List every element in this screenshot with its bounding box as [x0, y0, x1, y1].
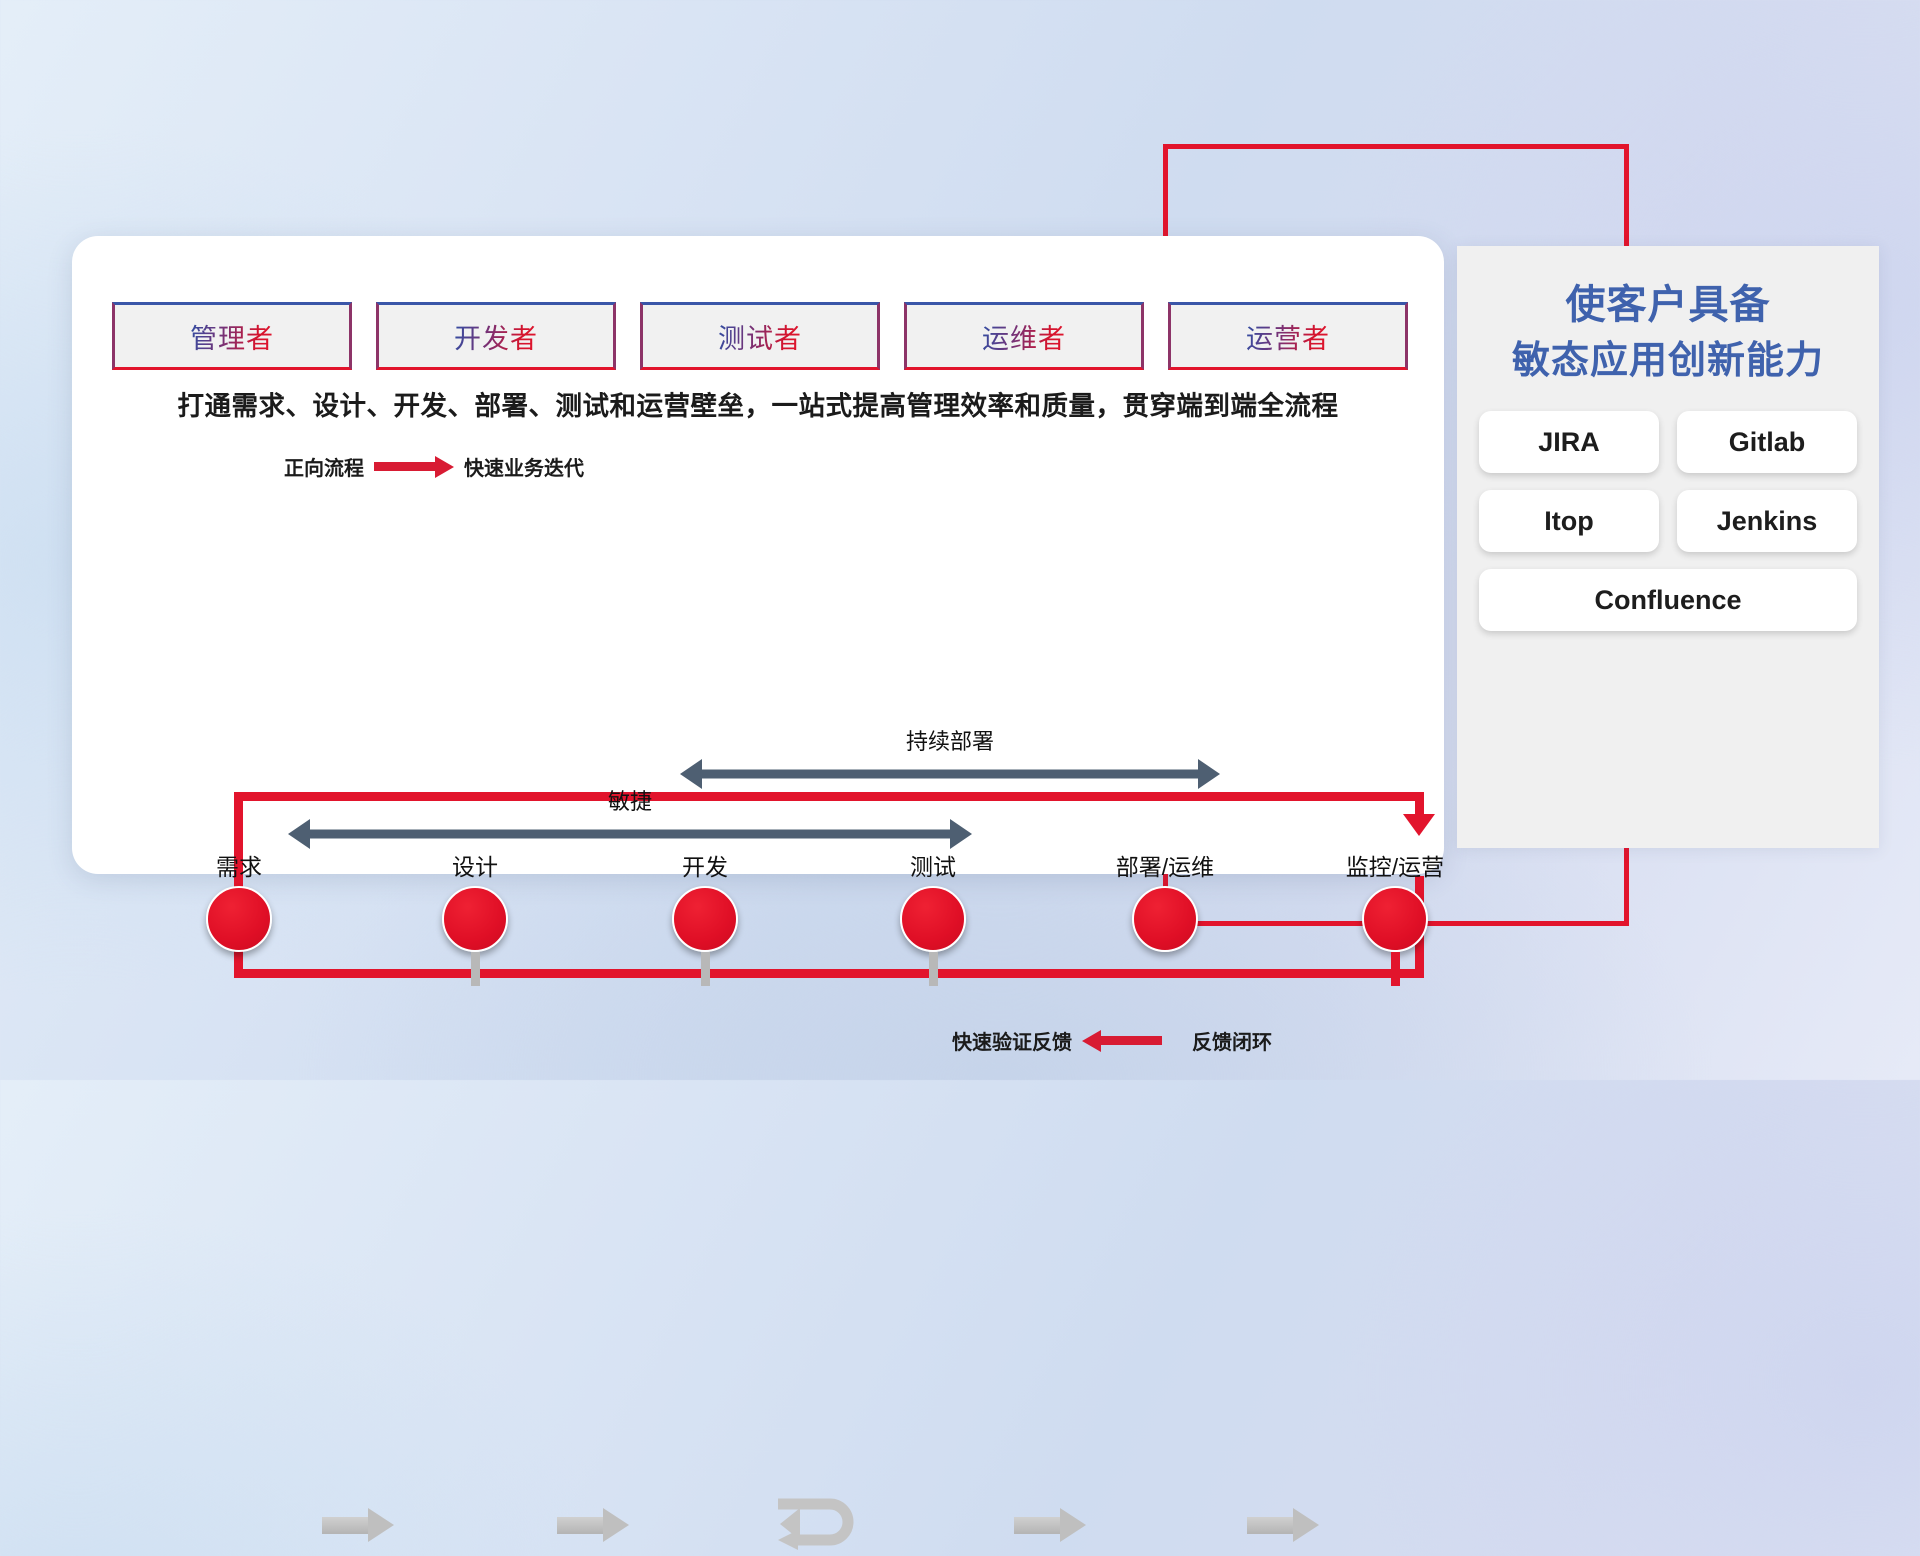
stage-label: 测试 — [858, 848, 1008, 882]
tool-chip-confluence[interactable]: Confluence — [1479, 569, 1857, 631]
stage-label: 需求 — [164, 848, 314, 882]
role-box-tester[interactable]: 测试者 — [640, 302, 880, 370]
role-box-ops[interactable]: 运维者 — [904, 302, 1144, 370]
tool-label: Jenkins — [1717, 506, 1818, 537]
stage-stem — [471, 952, 480, 986]
fast-iteration-label: 快速业务迭代 — [464, 452, 584, 481]
stage-label: 设计 — [400, 848, 550, 882]
arrow-head-right-icon — [950, 819, 972, 849]
stage-label: 开发 — [630, 848, 780, 882]
arrow-bar — [697, 770, 1203, 779]
flow-arrow-icon-2 — [557, 1508, 629, 1542]
pipeline-stage-development[interactable]: 开发 — [630, 848, 780, 986]
role-box-operations[interactable]: 运营者 — [1168, 302, 1408, 370]
tool-label: Itop — [1544, 506, 1593, 537]
pipeline: 需求 设计 开发 — [72, 848, 1444, 988]
right-arrow-icon — [374, 462, 436, 471]
pipeline-stage-deploy-ops[interactable]: 部署/运维 — [1090, 848, 1240, 986]
arrow-tip — [603, 1508, 629, 1542]
tool-chip-jenkins[interactable]: Jenkins — [1677, 490, 1857, 552]
role-label: 开发者 — [454, 317, 538, 356]
panel-title-line2: 敏态应用创新能力 — [1457, 334, 1879, 389]
stage-dot-icon — [442, 886, 508, 952]
stage-dot-icon — [206, 886, 272, 952]
tool-label: Confluence — [1594, 585, 1741, 616]
role-row: 管理者 开发者 测试者 运维者 运营者 — [112, 302, 1408, 370]
tool-chip-itop[interactable]: Itop — [1479, 490, 1659, 552]
arrow-tip — [1060, 1508, 1086, 1542]
forward-flow-legend: 正向流程 快速业务迭代 — [284, 452, 584, 481]
arrow-shaft — [1247, 1517, 1295, 1534]
stage-stem — [929, 952, 938, 986]
role-label: 管理者 — [190, 317, 274, 356]
flow-arrow-icon-1 — [322, 1508, 394, 1542]
feedback-loop-label: 反馈闭环 — [1192, 1026, 1272, 1055]
stage-label: 监控/运营 — [1320, 848, 1470, 882]
headline-text: 打通需求、设计、开发、部署、测试和运营壁垒，一站式提高管理效率和质量，贯穿端到端… — [72, 384, 1444, 423]
stage-label: 部署/运维 — [1090, 848, 1240, 882]
tool-chip-jira[interactable]: JIRA — [1479, 411, 1659, 473]
flow-arrow-icon-3 — [1014, 1508, 1086, 1542]
arrow-shaft — [322, 1517, 370, 1534]
tool-grid: JIRA Gitlab Itop Jenkins Confluence — [1479, 411, 1857, 631]
role-label: 运营者 — [1246, 317, 1330, 356]
stage-dot-icon — [672, 886, 738, 952]
role-box-developer[interactable]: 开发者 — [376, 302, 616, 370]
stage-stem — [1391, 952, 1400, 986]
continuous-deployment-label: 持续部署 — [680, 724, 1220, 756]
role-label: 运维者 — [982, 317, 1066, 356]
value-panel: 使客户具备 敏态应用创新能力 JIRA Gitlab Itop Jenkins … — [1457, 246, 1879, 848]
forward-flow-label: 正向流程 — [284, 452, 364, 481]
loop-back-arrow-icon — [772, 1494, 864, 1556]
feedback-legend: 快速验证反馈 反馈闭环 — [952, 1026, 1272, 1055]
pipeline-stage-design[interactable]: 设计 — [400, 848, 550, 986]
pipeline-stage-requirement[interactable]: 需求 — [164, 848, 314, 986]
tool-label: JIRA — [1538, 427, 1600, 458]
role-box-manager[interactable]: 管理者 — [112, 302, 352, 370]
pipeline-stage-testing[interactable]: 测试 — [858, 848, 1008, 986]
arrow-shaft — [1014, 1517, 1062, 1534]
role-label: 测试者 — [718, 317, 802, 356]
arrow-tip — [1293, 1508, 1319, 1542]
agile-label: 敏捷 — [288, 784, 972, 816]
arrow-bar — [305, 830, 955, 839]
main-card: 管理者 开发者 测试者 运维者 运营者 打通需求、设计、开发、部署、测试和运营壁… — [72, 236, 1444, 874]
left-arrow-icon — [1100, 1036, 1162, 1045]
stage-stem — [235, 952, 244, 986]
pipeline-stage-monitor-operations[interactable]: 监控/运营 — [1320, 848, 1470, 986]
panel-title-line1: 使客户具备 — [1566, 283, 1771, 327]
stage-dot-icon — [1362, 886, 1428, 952]
stage-dot-icon — [900, 886, 966, 952]
red-loop-down-arrow-icon — [1403, 814, 1435, 836]
tool-chip-gitlab[interactable]: Gitlab — [1677, 411, 1857, 473]
stage-stem — [1161, 952, 1170, 986]
fast-validation-label: 快速验证反馈 — [952, 1026, 1072, 1055]
arrow-head-right-icon — [1198, 759, 1220, 789]
flow-arrow-icon-4 — [1247, 1508, 1319, 1542]
panel-title: 使客户具备 敏态应用创新能力 — [1457, 246, 1879, 389]
arrow-tip — [368, 1508, 394, 1542]
arrow-shaft — [557, 1517, 605, 1534]
tool-label: Gitlab — [1729, 427, 1806, 458]
stage-dot-icon — [1132, 886, 1198, 952]
agile-arrow: 敏捷 — [288, 816, 972, 852]
stage-stem — [701, 952, 710, 986]
